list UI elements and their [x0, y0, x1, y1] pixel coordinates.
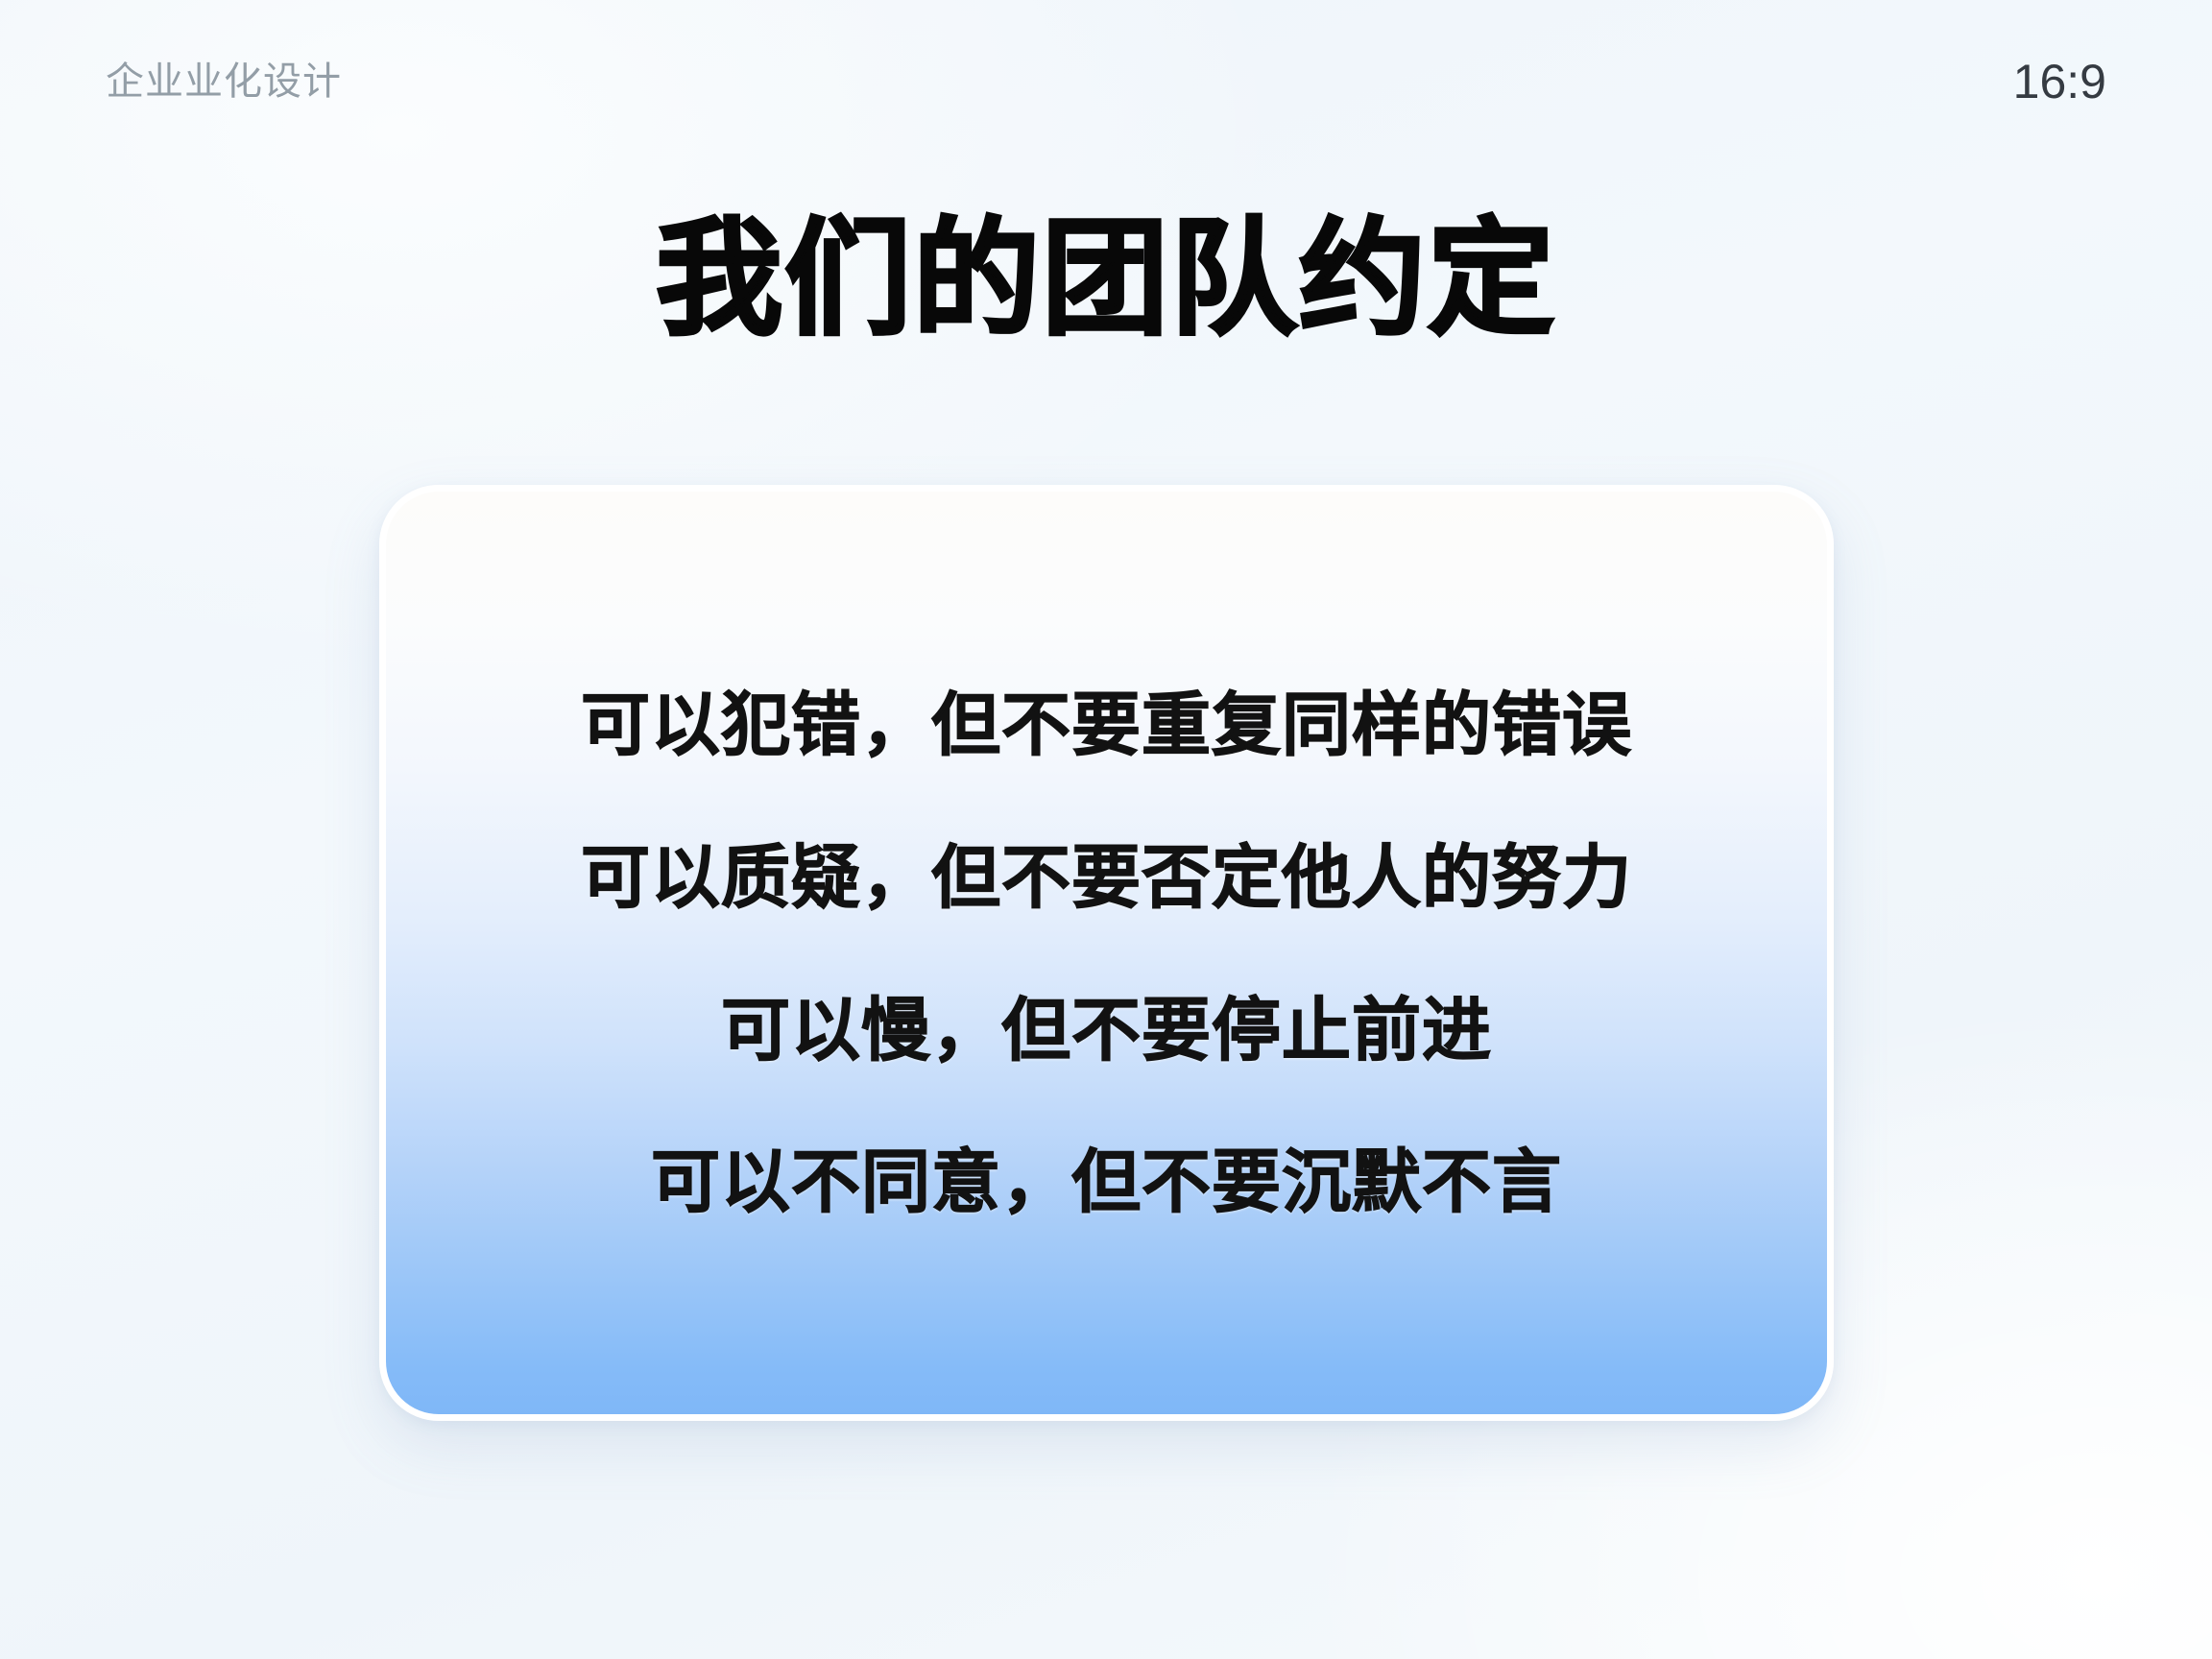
promise-line: 可以不同意，但不要沉默不言 — [651, 1144, 1562, 1222]
promise-line: 可以慢，但不要停止前进 — [721, 993, 1492, 1070]
promise-line: 可以质疑，但不要否定他人的努力 — [581, 840, 1632, 918]
slide-canvas: 企业业化设计 16:9 我们的团队约定 可以犯错，但不要重复同样的错误 可以质疑… — [0, 0, 2212, 1659]
promise-line: 可以犯错，但不要重复同样的错误 — [581, 687, 1632, 765]
slide-header: 企业业化设计 16:9 — [0, 0, 2212, 163]
brand-tag: 企业业化设计 — [106, 62, 342, 101]
team-agreement-card: 可以犯错，但不要重复同样的错误 可以质疑，但不要否定他人的努力 可以慢，但不要停… — [379, 485, 1834, 1421]
team-agreement-card-wrapper: 可以犯错，但不要重复同样的错误 可以质疑，但不要否定他人的努力 可以慢，但不要停… — [379, 485, 1834, 1421]
page-title: 我们的团队约定 — [0, 213, 2212, 347]
promise-list: 可以犯错，但不要重复同样的错误 可以质疑，但不要否定他人的努力 可以慢，但不要停… — [386, 662, 1827, 1243]
aspect-ratio-tag: 16:9 — [2013, 58, 2106, 106]
